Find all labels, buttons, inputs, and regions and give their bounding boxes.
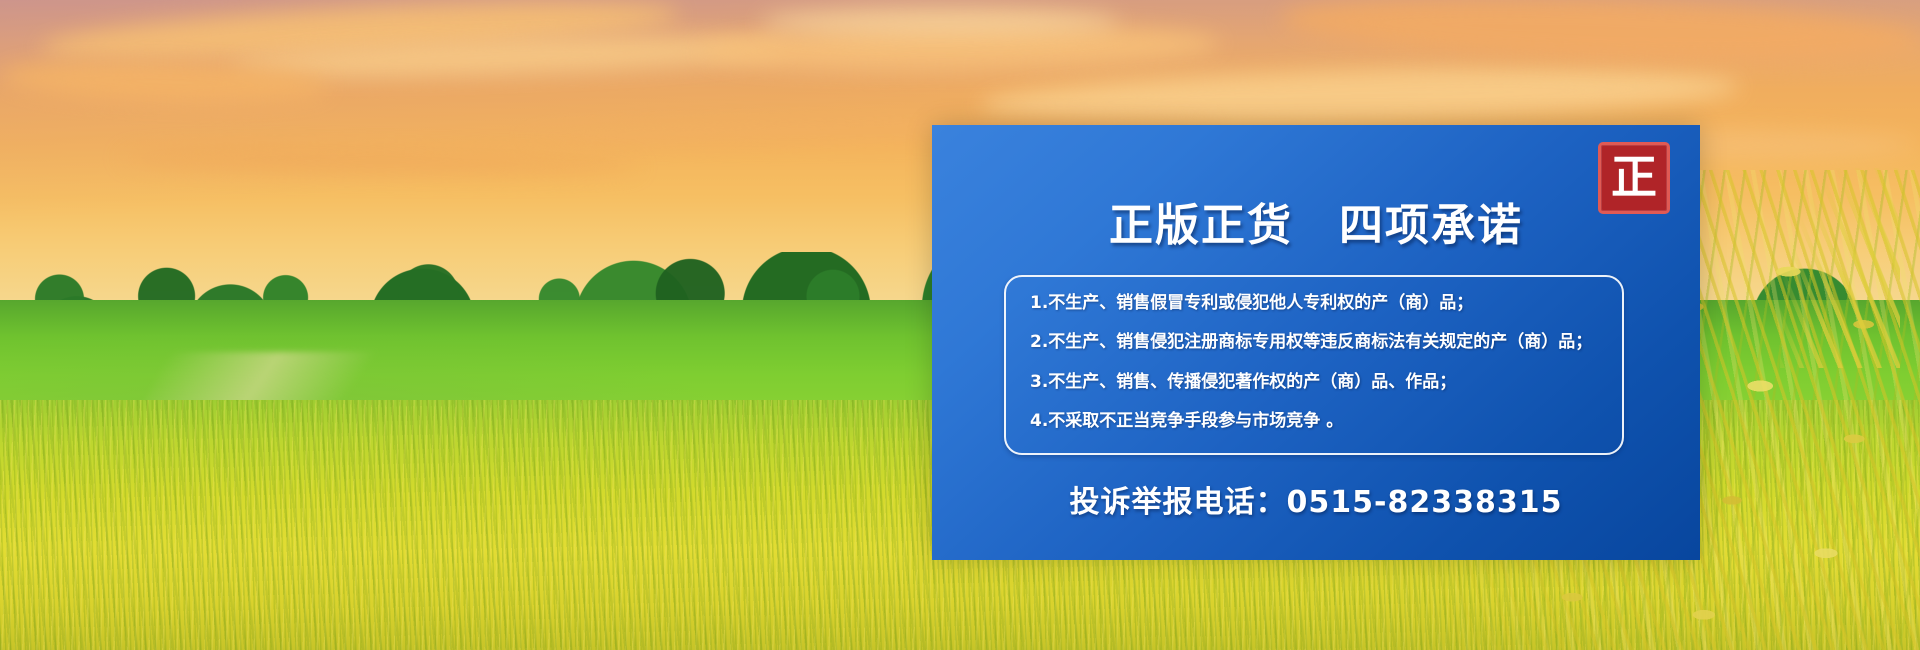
promise-item-1: 1.不生产、销售假冒专利或侵犯他人专利权的产（商）品；	[1030, 293, 1600, 314]
complaint-hotline: 投诉举报电话：0515-82338315	[932, 477, 1700, 521]
promise-item-4: 4.不采取不正当竞争手段参与市场竞争 。	[1030, 411, 1600, 432]
rice-stalk-tip	[1780, 168, 1900, 368]
promise-panel: 正 正版正货 四项承诺 1.不生产、销售假冒专利或侵犯他人专利权的产（商）品； …	[932, 125, 1700, 560]
cloud-shape	[760, 8, 1120, 36]
promotional-banner: 正 正版正货 四项承诺 1.不生产、销售假冒专利或侵犯他人专利权的产（商）品； …	[0, 0, 1920, 650]
promise-list: 1.不生产、销售假冒专利或侵犯他人专利权的产（商）品； 2.不生产、销售侵犯注册…	[1004, 275, 1624, 455]
cloud-shape	[120, 145, 640, 178]
cloud-shape	[1279, 0, 1920, 71]
promise-item-2: 2.不生产、销售侵犯注册商标专用权等违反商标法有关规定的产（商）品；	[1030, 332, 1600, 353]
panel-title: 正版正货 四项承诺	[932, 189, 1700, 253]
promise-item-3: 3.不生产、销售、传播侵犯著作权的产（商）品、作品；	[1030, 372, 1600, 393]
